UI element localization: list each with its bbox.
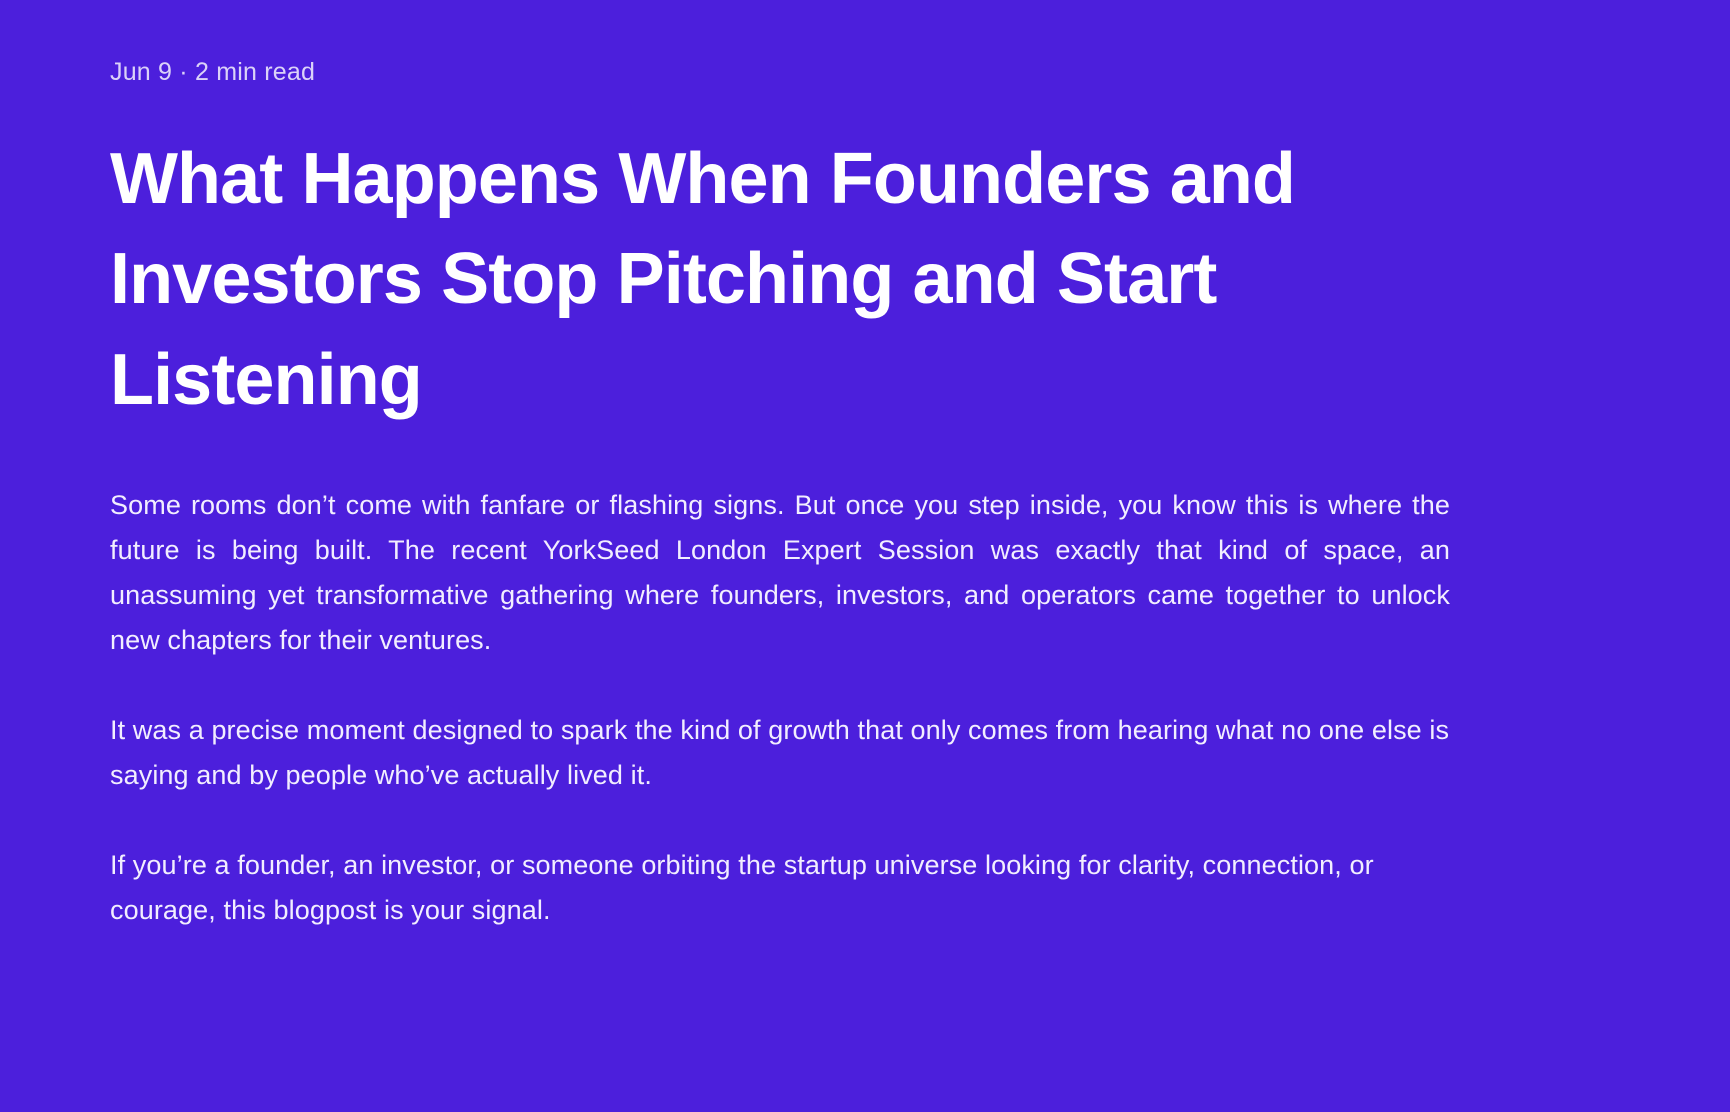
article-content-column: Jun 9 · 2 min read What Happens When Fou…: [110, 56, 1450, 933]
article-paragraph-1: Some rooms don’t come with fanfare or fl…: [110, 483, 1450, 663]
article-paragraph-2: It was a precise moment designed to spar…: [110, 708, 1450, 798]
page-title: What Happens When Founders and Investors…: [110, 129, 1440, 431]
blog-post-article: Jun 9 · 2 min read What Happens When Fou…: [0, 0, 1730, 1112]
article-meta: Jun 9 · 2 min read: [110, 56, 1450, 89]
article-paragraph-3: If you’re a founder, an investor, or som…: [110, 843, 1450, 933]
